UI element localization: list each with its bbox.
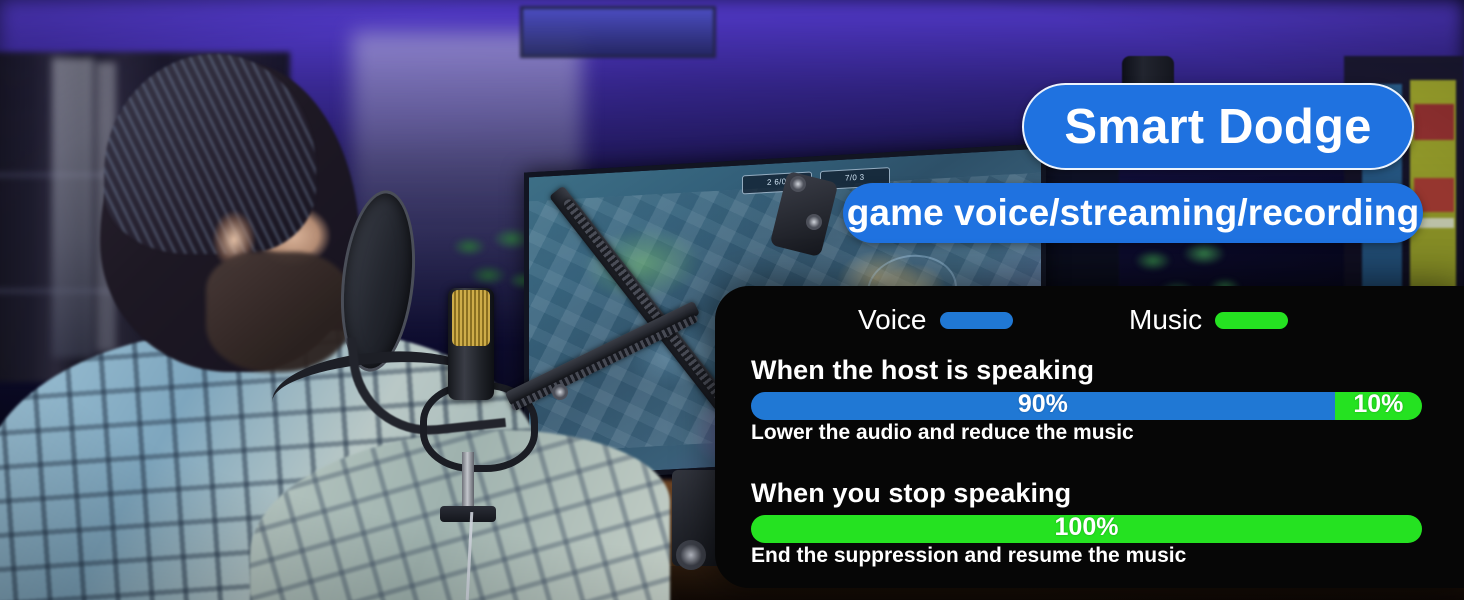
shelf-light-panel	[52, 58, 94, 358]
smart-dodge-title-badge: Smart Dodge	[1022, 83, 1414, 170]
legend-label-voice: Voice	[858, 304, 927, 336]
section-stop-speaking: When you stop speaking 100% End the supp…	[751, 479, 1439, 567]
channel-legend: Voice Music	[715, 304, 1464, 338]
section-desc-host-speaking: Lower the audio and reduce the music	[751, 422, 1439, 444]
person-beard	[206, 252, 356, 372]
legend-item-music: Music	[1129, 304, 1288, 336]
mix-bar-segment-music: 10%	[1335, 392, 1422, 420]
use-cases-subtitle-badge: game voice/streaming/recording	[843, 183, 1423, 243]
boom-arm-bolt-3	[552, 384, 568, 400]
boom-arm-bolt-1	[790, 176, 806, 192]
smart-dodge-info-panel: Voice Music When the host is speaking 90…	[715, 286, 1464, 588]
legend-label-music: Music	[1129, 304, 1202, 336]
section-host-speaking: When the host is speaking 90% 10% Lower …	[751, 356, 1439, 444]
legend-swatch-music	[1215, 312, 1288, 329]
microphone-base	[440, 506, 496, 522]
mix-bar-label-music-full: 100%	[1055, 515, 1119, 543]
mix-bar-segment-music-full: 100%	[751, 515, 1422, 543]
mix-bar-label-music: 10%	[1353, 392, 1403, 420]
microphone-stem	[462, 452, 474, 510]
mix-bar-label-voice: 90%	[1018, 392, 1068, 420]
section-desc-stop-speaking: End the suppression and resume the music	[751, 545, 1439, 567]
wall-art-frame	[520, 6, 716, 58]
legend-swatch-voice	[940, 312, 1013, 329]
boom-arm-clamp-knob	[676, 540, 706, 570]
legend-item-voice: Voice	[858, 304, 1013, 336]
microphone-gold-grille	[452, 290, 490, 346]
mix-bar-stop-speaking: 100%	[751, 515, 1422, 543]
storage-box-red	[1414, 104, 1454, 140]
product-lifestyle-banner: 2 6/0 7/0 3	[0, 0, 1464, 600]
section-title-stop-speaking: When you stop speaking	[751, 479, 1439, 508]
mix-bar-host-speaking: 90% 10%	[751, 392, 1422, 420]
section-title-host-speaking: When the host is speaking	[751, 356, 1439, 385]
boom-arm-bolt-2	[806, 214, 822, 230]
mix-bar-segment-voice: 90%	[751, 392, 1335, 420]
